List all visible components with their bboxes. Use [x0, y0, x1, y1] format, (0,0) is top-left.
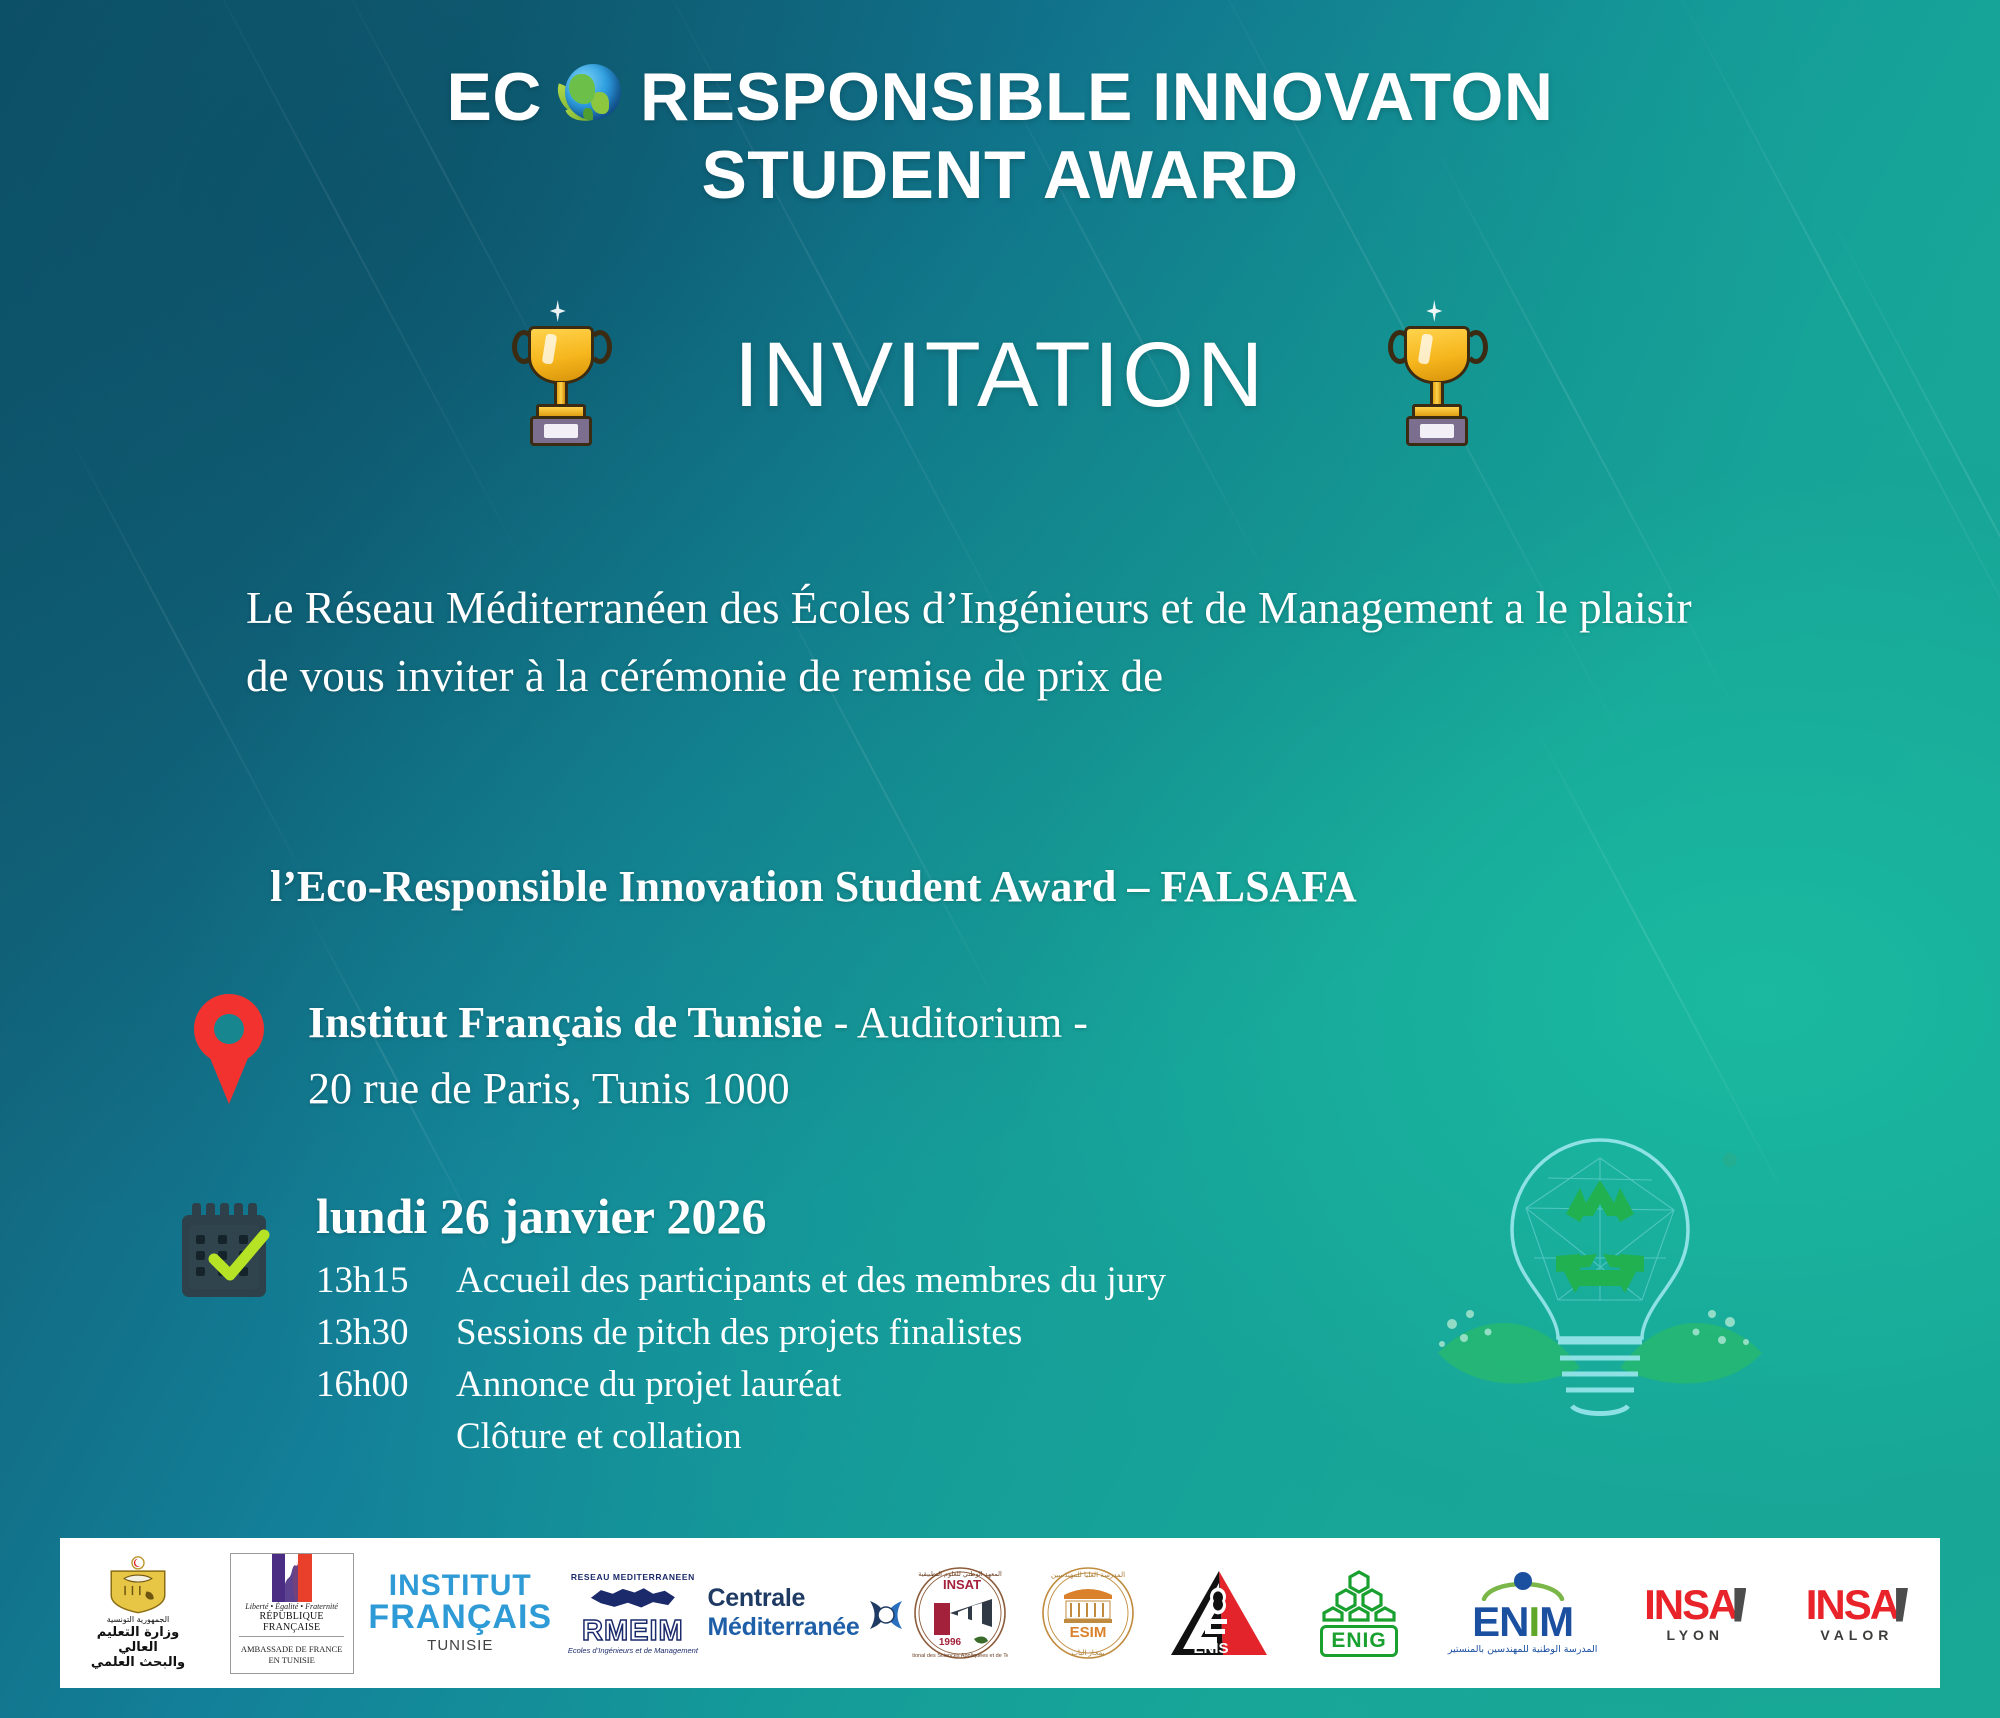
venue-address: 20 rue de Paris, Tunis 1000 [308, 1064, 790, 1113]
agenda-text: lundi 26 janvier 2026 13h15Accueil des p… [316, 1185, 1166, 1463]
ministry-arabic-line1: وزارة التعليم العالي [78, 1625, 198, 1655]
trophy-icon [510, 300, 614, 450]
ambassade-motto: Liberté • Égalité • Fraternité [245, 1602, 338, 1611]
ministry-arabic-line2: والبحث العلمي [91, 1655, 185, 1670]
enim-acronym: ENIM [1472, 1601, 1573, 1643]
rmeim-arc-text: RESEAU MEDITERRANEEN [571, 1572, 695, 1582]
cm-word-mediterranee: Méditerranée [708, 1613, 860, 1642]
logo-enim: ENIM المدرسة الوطنية للمهندسين بالمنستير [1447, 1571, 1599, 1655]
ambassade-line2: EN TUNISIE [268, 1655, 314, 1665]
venue-text: Institut Français de Tunisie - Auditoriu… [308, 990, 1088, 1122]
logo-enis: ENIS [1167, 1567, 1271, 1659]
svg-text:ESIM: ESIM [1069, 1624, 1106, 1641]
mediterranean-sea-icon [591, 1584, 675, 1614]
invitation-row: INVITATION [0, 300, 2000, 450]
agenda-row: 13h15Accueil des participants et des mem… [316, 1255, 1166, 1307]
insa-valor-acronym: INSA [1806, 1584, 1908, 1626]
enig-acronym: ENIG [1320, 1625, 1397, 1657]
agenda-time: 16h00 [316, 1359, 456, 1411]
invitation-heading: INVITATION [734, 327, 1267, 423]
agenda-description: Accueil des participants et des membres … [456, 1255, 1166, 1307]
logo-centrale-mediterranee: Centrale Méditerranée [731, 1584, 881, 1642]
if-word-francais: FRANÇAIS [368, 1601, 552, 1633]
insa-valor-sub: VALOR [1820, 1627, 1893, 1643]
agenda-row: 13h30Sessions de pitch des projets final… [316, 1307, 1166, 1359]
logo-ministere-enseignement-superieur-tunisie: الجمهورية التونسية وزارة التعليم العالي … [78, 1556, 198, 1670]
logo-institut-francais-tunisie: INSTITUT FRANÇAIS TUNISIE [385, 1572, 535, 1654]
svg-text:ENIS: ENIS [1194, 1640, 1229, 1657]
svg-text:بمجاز الباب: بمجاز الباب [1071, 1649, 1104, 1657]
poster-title-block: EC RESPONSIBLE INNOVATON STUDENT AWARD [0, 58, 2000, 214]
trophy-icon [1386, 300, 1490, 450]
logo-enig: ENIG [1303, 1570, 1415, 1657]
rmeim-acronym: RMEIM [582, 1616, 684, 1646]
agenda-description: Sessions de pitch des projets finalistes [456, 1307, 1166, 1359]
logo-insat: المعهد الوطني للعلوم التطبيقية Institut … [912, 1565, 1008, 1661]
venue-detail: - Auditorium - [823, 998, 1088, 1047]
title-line-1: EC RESPONSIBLE INNOVATON [0, 58, 2000, 136]
svg-text:INSAT: INSAT [943, 1577, 981, 1592]
agenda-block: lundi 26 janvier 2026 13h15Accueil des p… [178, 1185, 1166, 1463]
agenda-description: Clôture et collation [456, 1411, 1166, 1463]
invitation-paragraph: Le Réseau Méditerranéen des Écoles d’Ing… [246, 574, 1696, 710]
earth-globe-eco-icon [552, 58, 630, 136]
centrale-star-mark-icon [866, 1597, 904, 1629]
enim-arc-icon [1448, 1571, 1598, 1601]
insa-lyon-sub: LYON [1666, 1627, 1724, 1643]
cm-word-centrale: Centrale [708, 1584, 860, 1613]
agenda-time: 13h30 [316, 1307, 456, 1359]
award-name-line: l’Eco-Responsible Innovation Student Awa… [270, 858, 1870, 916]
enim-arabic: المدرسة الوطنية للمهندسين بالمنستير [1448, 1644, 1598, 1655]
agenda-row: Clôture et collation [316, 1411, 1166, 1463]
ministry-arabic-top: الجمهورية التونسية [107, 1614, 169, 1625]
if-word-tunisie: TUNISIE [427, 1637, 493, 1654]
insa-lyon-acronym: INSA [1644, 1584, 1746, 1626]
eco-lightbulb-recycle-icon [1430, 1118, 1770, 1448]
logo-rmeim: RESEAU MEDITERRANEEN RMEIM Ecoles d’Ingé… [567, 1572, 699, 1655]
map-pin-icon [190, 994, 268, 1112]
agenda-time [316, 1411, 456, 1463]
ambassade-line1: AMBASSADE DE FRANCE [241, 1644, 343, 1654]
rmeim-subtitle: Ecoles d’Ingénieurs et de Management [568, 1646, 698, 1655]
svg-text:1996: 1996 [939, 1637, 962, 1648]
logo-ambassade-de-france-en-tunisie: Liberté • Égalité • Fraternité RÉPUBLIQU… [230, 1553, 354, 1674]
french-flag-marianne-icon [272, 1554, 312, 1602]
enim-part-m: M [1539, 1598, 1573, 1645]
logo-insa-valor: INSA VALOR [1792, 1584, 1922, 1643]
honeycomb-icon [1322, 1570, 1396, 1622]
ambassade-republic: RÉPUBLIQUE FRANÇAISE [231, 1611, 353, 1636]
logo-insa-lyon: INSA LYON [1630, 1584, 1760, 1643]
title-prefix: EC [447, 58, 542, 136]
enim-part-i: I [1528, 1598, 1539, 1645]
logo-esim: المدرسة العليا للمهندسين بمجاز الباب ESI… [1040, 1565, 1136, 1661]
venue-block: Institut Français de Tunisie - Auditoriu… [190, 990, 1088, 1122]
event-date: lundi 26 janvier 2026 [316, 1185, 1166, 1247]
enim-part-en: EN [1472, 1598, 1528, 1645]
partner-logo-strip: الجمهورية التونسية وزارة التعليم العالي … [60, 1538, 1940, 1688]
venue-name: Institut Français de Tunisie [308, 998, 823, 1047]
agenda-time: 13h15 [316, 1255, 456, 1307]
calendar-check-icon [178, 1203, 274, 1303]
agenda-description: Annonce du projet lauréat [456, 1359, 1166, 1411]
svg-text:Institut National des Sciences: Institut National des Sciences Appliquée… [912, 1653, 1008, 1659]
svg-text:المدرسة العليا للمهندسين: المدرسة العليا للمهندسين [1051, 1571, 1125, 1579]
ambassade-lines: AMBASSADE DE FRANCE EN TUNISIE [239, 1636, 345, 1673]
title-line-2: STUDENT AWARD [0, 136, 2000, 214]
agenda-row: 16h00Annonce du projet lauréat [316, 1359, 1166, 1411]
if-word-institut: INSTITUT [389, 1572, 532, 1601]
agenda-schedule: 13h15Accueil des participants et des mem… [316, 1255, 1166, 1463]
title-suffix: RESPONSIBLE INNOVATON [640, 58, 1554, 136]
invitation-poster: EC RESPONSIBLE INNOVATON STUDENT AWARD I… [0, 0, 2000, 1718]
